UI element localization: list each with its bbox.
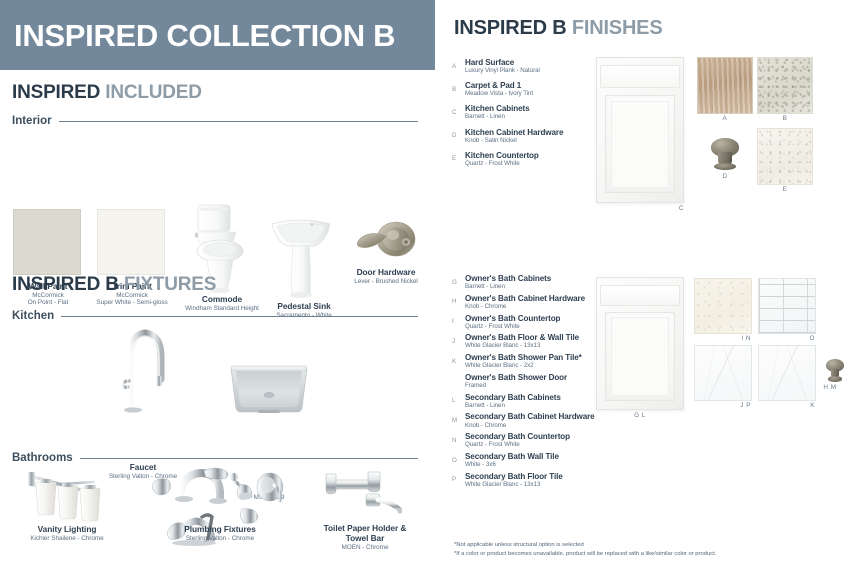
header-banner: INSPIRED COLLECTION B — [0, 0, 435, 70]
finishes-heading-strong: INSPIRED B — [454, 17, 566, 39]
finish-name: Carpet & Pad 1 — [465, 81, 533, 90]
caption-vanity-lighting: Vanity Lighting Kichler Shailene - Chrom… — [13, 525, 121, 542]
finish-text: Owner's Bath Countertop Quartz - Frost W… — [465, 314, 560, 330]
caption-title: Vanity Lighting — [13, 525, 121, 535]
caption-title: Door Hardware — [336, 268, 436, 278]
swatch-kitchen-knob: D — [705, 137, 745, 171]
finish-desc: Luxury Vinyl Plank - Natural — [465, 67, 540, 74]
finish-desc: Quartz - Frost White — [465, 160, 539, 167]
finish-desc: Knob - Chrome — [465, 303, 585, 310]
finish-letter: B — [452, 86, 460, 93]
finish-text: Carpet & Pad 1 Meadow Vista - Ivory Tint — [465, 81, 533, 97]
swatch-label-b: B — [758, 113, 812, 122]
finish-item: G Owner's Bath Cabinets Barnett - Linen — [452, 274, 618, 290]
bath-cabinet-door-art — [596, 277, 684, 410]
caption-line1: Kichler Shailene - Chrome — [13, 535, 121, 543]
group-interior-label: Interior — [12, 115, 52, 127]
swatch-bath-countertop: I N — [694, 278, 752, 334]
finish-item: C Kitchen Cabinets Barnett - Linen — [452, 104, 612, 120]
swatch-label-d: D — [705, 171, 745, 180]
caption-door-hardware: Door Hardware Lever - Brushed Nickel — [336, 268, 436, 285]
group-interior: Interior — [12, 115, 418, 127]
included-heading-strong: INSPIRED — [12, 82, 100, 103]
image-door-hardware — [350, 218, 422, 270]
finish-letter: D — [452, 132, 460, 139]
finish-item: N Secondary Bath Countertop Quartz - Fro… — [452, 432, 618, 448]
footnote-2: *If a color or product becomes unavailab… — [454, 550, 849, 560]
included-heading-light: INCLUDED — [105, 82, 202, 103]
group-kitchen-rule — [61, 316, 418, 317]
finish-letter: N — [452, 437, 460, 444]
finish-item: I Owner's Bath Countertop Quartz - Frost… — [452, 314, 618, 330]
swatch-label-hm: H M — [810, 382, 850, 391]
finishes-list-top: A Hard Surface Luxury Vinyl Plank - Natu… — [452, 58, 612, 167]
finish-text: Owner's Bath Shower Pan Tile* White Glac… — [465, 353, 582, 369]
caption-title-2: Towel Bar — [310, 534, 420, 544]
swatch-owners-bath-floor-tile: J P — [694, 345, 752, 401]
image-faucet — [115, 323, 171, 413]
finish-desc: White Glacier Blanc - 13x13 — [465, 342, 579, 349]
finishes-heading-light: FINISHES — [572, 17, 663, 39]
faucet-svg — [115, 323, 171, 413]
finish-desc: White - 3x6 — [465, 461, 559, 468]
cabinet-panel — [605, 312, 676, 401]
swatch-secondary-wall-tile: O — [758, 278, 816, 334]
finish-item: B Carpet & Pad 1 Meadow Vista - Ivory Ti… — [452, 81, 612, 97]
pedestal-sink-svg — [266, 210, 336, 300]
finish-desc: Meadow Vista - Ivory Tint — [465, 90, 533, 97]
swatch-label-a: A — [698, 113, 752, 122]
swatch-label-c: C — [596, 203, 684, 212]
swatch-label-jp: J P — [695, 400, 751, 409]
finish-name: Secondary Bath Cabinet Hardware — [465, 412, 595, 421]
group-bathrooms-rule — [80, 458, 418, 459]
finish-letter: A — [452, 63, 460, 70]
swatch-bath-cabinet-door: G L — [596, 277, 684, 410]
finish-desc: Barnett - Linen — [465, 113, 530, 120]
knob-base — [714, 163, 736, 170]
group-bathrooms-label: Bathrooms — [12, 452, 73, 464]
cabinet-door-art — [596, 57, 684, 203]
left-column: INSPIRED INCLUDED Interior Wall Paint Mc… — [0, 70, 440, 569]
swatch-hard-surface: A — [697, 57, 753, 114]
towel-bar-svg — [320, 468, 402, 522]
right-column: INSPIRED B FINISHES A Hard Surface Luxur… — [440, 0, 853, 569]
finish-item: E Kitchen Countertop Quartz - Frost Whit… — [452, 151, 612, 167]
footnote-1: *Not applicable unless structural option… — [454, 541, 849, 551]
included-heading: INSPIRED INCLUDED — [12, 83, 202, 102]
caption-line1: MOEN - Chrome — [310, 544, 420, 552]
vanity-light-svg — [24, 468, 108, 526]
caption-plumbing-fixtures: Plumbing Fixtures Sterling Valton - Chro… — [160, 525, 280, 542]
page-title: INSPIRED COLLECTION B — [0, 20, 395, 51]
image-pedestal-sink — [266, 210, 336, 300]
finish-text: Kitchen Cabinet Hardware Knob - Satin Ni… — [465, 128, 563, 144]
finish-name: Kitchen Cabinet Hardware — [465, 128, 563, 137]
finish-name: Owner's Bath Shower Pan Tile* — [465, 353, 582, 362]
swatch-label-in: I N — [695, 333, 751, 342]
finish-item: J Owner's Bath Floor & Wall Tile White G… — [452, 333, 618, 349]
finish-name: Owner's Bath Cabinets — [465, 274, 551, 283]
finish-letter: O — [452, 457, 460, 464]
swatch-kitchen-countertop: E — [757, 128, 813, 185]
finish-desc: Barnett - Linen — [465, 402, 561, 409]
finish-text: Owner's Bath Cabinets Barnett - Linen — [465, 274, 551, 290]
caption-line2: On Point - Flat — [3, 299, 93, 307]
fixtures-heading: INSPIRED B FIXTURES — [12, 275, 216, 294]
finish-letter: G — [452, 279, 460, 286]
finish-name: Owner's Bath Floor & Wall Tile — [465, 333, 579, 342]
finish-letter: J — [452, 338, 460, 345]
group-kitchen-label: Kitchen — [12, 310, 54, 322]
finish-letter: H — [452, 298, 460, 305]
fixtures-heading-strong: INSPIRED B — [12, 274, 119, 295]
finish-letter: C — [452, 109, 460, 116]
knob-base — [828, 376, 843, 381]
finish-desc: Quartz - Frost White — [465, 323, 560, 330]
group-bathrooms: Bathrooms — [12, 452, 418, 464]
finish-text: Secondary Bath Floor Tile White Glacier … — [465, 472, 563, 488]
finish-letter: M — [452, 417, 460, 424]
finish-name: Owner's Bath Shower Door — [465, 373, 567, 382]
footnotes: *Not applicable unless structural option… — [454, 541, 849, 560]
finish-text: Owner's Bath Shower Door Framed — [465, 373, 567, 389]
finish-desc: White Glacier Blanc - 2x2 — [465, 362, 582, 369]
swatch-label-e: E — [758, 184, 812, 193]
swatch-owners-shower-pan-tile: K — [758, 345, 816, 401]
finish-desc: Framed — [465, 382, 567, 389]
bath-knob-art — [822, 358, 848, 382]
cabinet-panel — [605, 95, 676, 193]
finishes-list-bottom: G Owner's Bath Cabinets Barnett - Linen … — [452, 274, 618, 488]
caption-title: Plumbing Fixtures — [160, 525, 280, 535]
group-interior-rule — [59, 121, 418, 122]
finish-desc: Knob - Chrome — [465, 422, 595, 429]
finish-letter: I — [452, 318, 460, 325]
cabinet-drawer — [600, 285, 679, 306]
finish-letter: L — [452, 397, 460, 404]
group-kitchen: Kitchen — [12, 310, 418, 322]
finish-text: Secondary Bath Wall Tile White - 3x6 — [465, 452, 559, 468]
caption-title: Commode — [176, 295, 268, 305]
finish-name: Secondary Bath Cabinets — [465, 393, 561, 402]
image-toilet-paper-holder — [320, 468, 402, 522]
swatch-label-gl: G L — [596, 410, 684, 419]
finish-text: Kitchen Countertop Quartz - Frost White — [465, 151, 539, 167]
swatch-wall-paint — [13, 209, 81, 275]
finish-item: L Secondary Bath Cabinets Barnett - Line… — [452, 393, 618, 409]
caption-line1: Sterling Valton - Chrome — [160, 535, 280, 543]
swatch-trim-paint — [97, 209, 165, 275]
knob-art — [705, 137, 745, 171]
finish-item: A Hard Surface Luxury Vinyl Plank - Natu… — [452, 58, 612, 74]
finish-item: H Owner's Bath Cabinet Hardware Knob - C… — [452, 294, 618, 310]
finish-name: Secondary Bath Wall Tile — [465, 452, 559, 461]
finish-desc: Knob - Satin Nickel — [465, 137, 563, 144]
image-kitchen-sink — [228, 360, 310, 416]
kitchen-sink-svg — [228, 360, 310, 416]
door-lever-svg — [350, 218, 422, 270]
finish-name: Secondary Bath Floor Tile — [465, 472, 563, 481]
finish-name: Kitchen Countertop — [465, 151, 539, 160]
collection-sheet: INSPIRED COLLECTION B INSPIRED INCLUDED … — [0, 0, 853, 569]
finish-item: P Secondary Bath Floor Tile White Glacie… — [452, 472, 618, 488]
finish-item: M Secondary Bath Cabinet Hardware Knob -… — [452, 412, 618, 428]
finish-text: Owner's Bath Floor & Wall Tile White Gla… — [465, 333, 579, 349]
finish-name: Secondary Bath Countertop — [465, 432, 570, 441]
caption-line1: Lever - Brushed Nickel — [336, 278, 436, 286]
finish-name: Owner's Bath Cabinet Hardware — [465, 294, 585, 303]
finish-item: D Kitchen Cabinet Hardware Knob - Satin … — [452, 128, 612, 144]
finish-text: Secondary Bath Cabinet Hardware Knob - C… — [465, 412, 595, 428]
finish-name: Hard Surface — [465, 58, 540, 67]
finish-letter: E — [452, 155, 460, 162]
finish-item: K Owner's Bath Shower Pan Tile* White Gl… — [452, 353, 618, 369]
image-vanity-lighting — [24, 468, 108, 526]
swatch-label-k: K — [759, 400, 815, 409]
finish-text: Secondary Bath Cabinets Barnett - Linen — [465, 393, 561, 409]
finish-text: Owner's Bath Cabinet Hardware Knob - Chr… — [465, 294, 585, 310]
cabinet-drawer — [600, 65, 679, 88]
finish-desc: White Glacier Blanc - 13x13 — [465, 481, 563, 488]
fixtures-heading-light: FIXTURES — [124, 274, 216, 295]
finish-desc: Quartz - Frost White — [465, 441, 570, 448]
finish-name: Kitchen Cabinets — [465, 104, 530, 113]
finish-letter: P — [452, 476, 460, 483]
finish-letter: K — [452, 358, 460, 365]
finish-text: Hard Surface Luxury Vinyl Plank - Natura… — [465, 58, 540, 74]
finish-desc: Barnett - Linen — [465, 283, 551, 290]
swatch-carpet: B — [757, 57, 813, 114]
finishes-heading: INSPIRED B FINISHES — [454, 18, 662, 38]
swatch-kitchen-cabinet-door: C — [596, 57, 684, 203]
finish-text: Kitchen Cabinets Barnett - Linen — [465, 104, 530, 120]
swatch-label-o: O — [759, 333, 815, 342]
finish-name: Owner's Bath Countertop — [465, 314, 560, 323]
swatch-bath-knob: H M — [822, 358, 848, 382]
finish-item: O Secondary Bath Wall Tile White - 3x6 — [452, 452, 618, 468]
caption-line2: Super White - Semi-gloss — [86, 299, 178, 307]
caption-toilet-paper-holder: Toilet Paper Holder & Towel Bar MOEN - C… — [310, 524, 420, 551]
finish-text: Secondary Bath Countertop Quartz - Frost… — [465, 432, 570, 448]
finish-item: Owner's Bath Shower Door Framed — [452, 373, 618, 389]
